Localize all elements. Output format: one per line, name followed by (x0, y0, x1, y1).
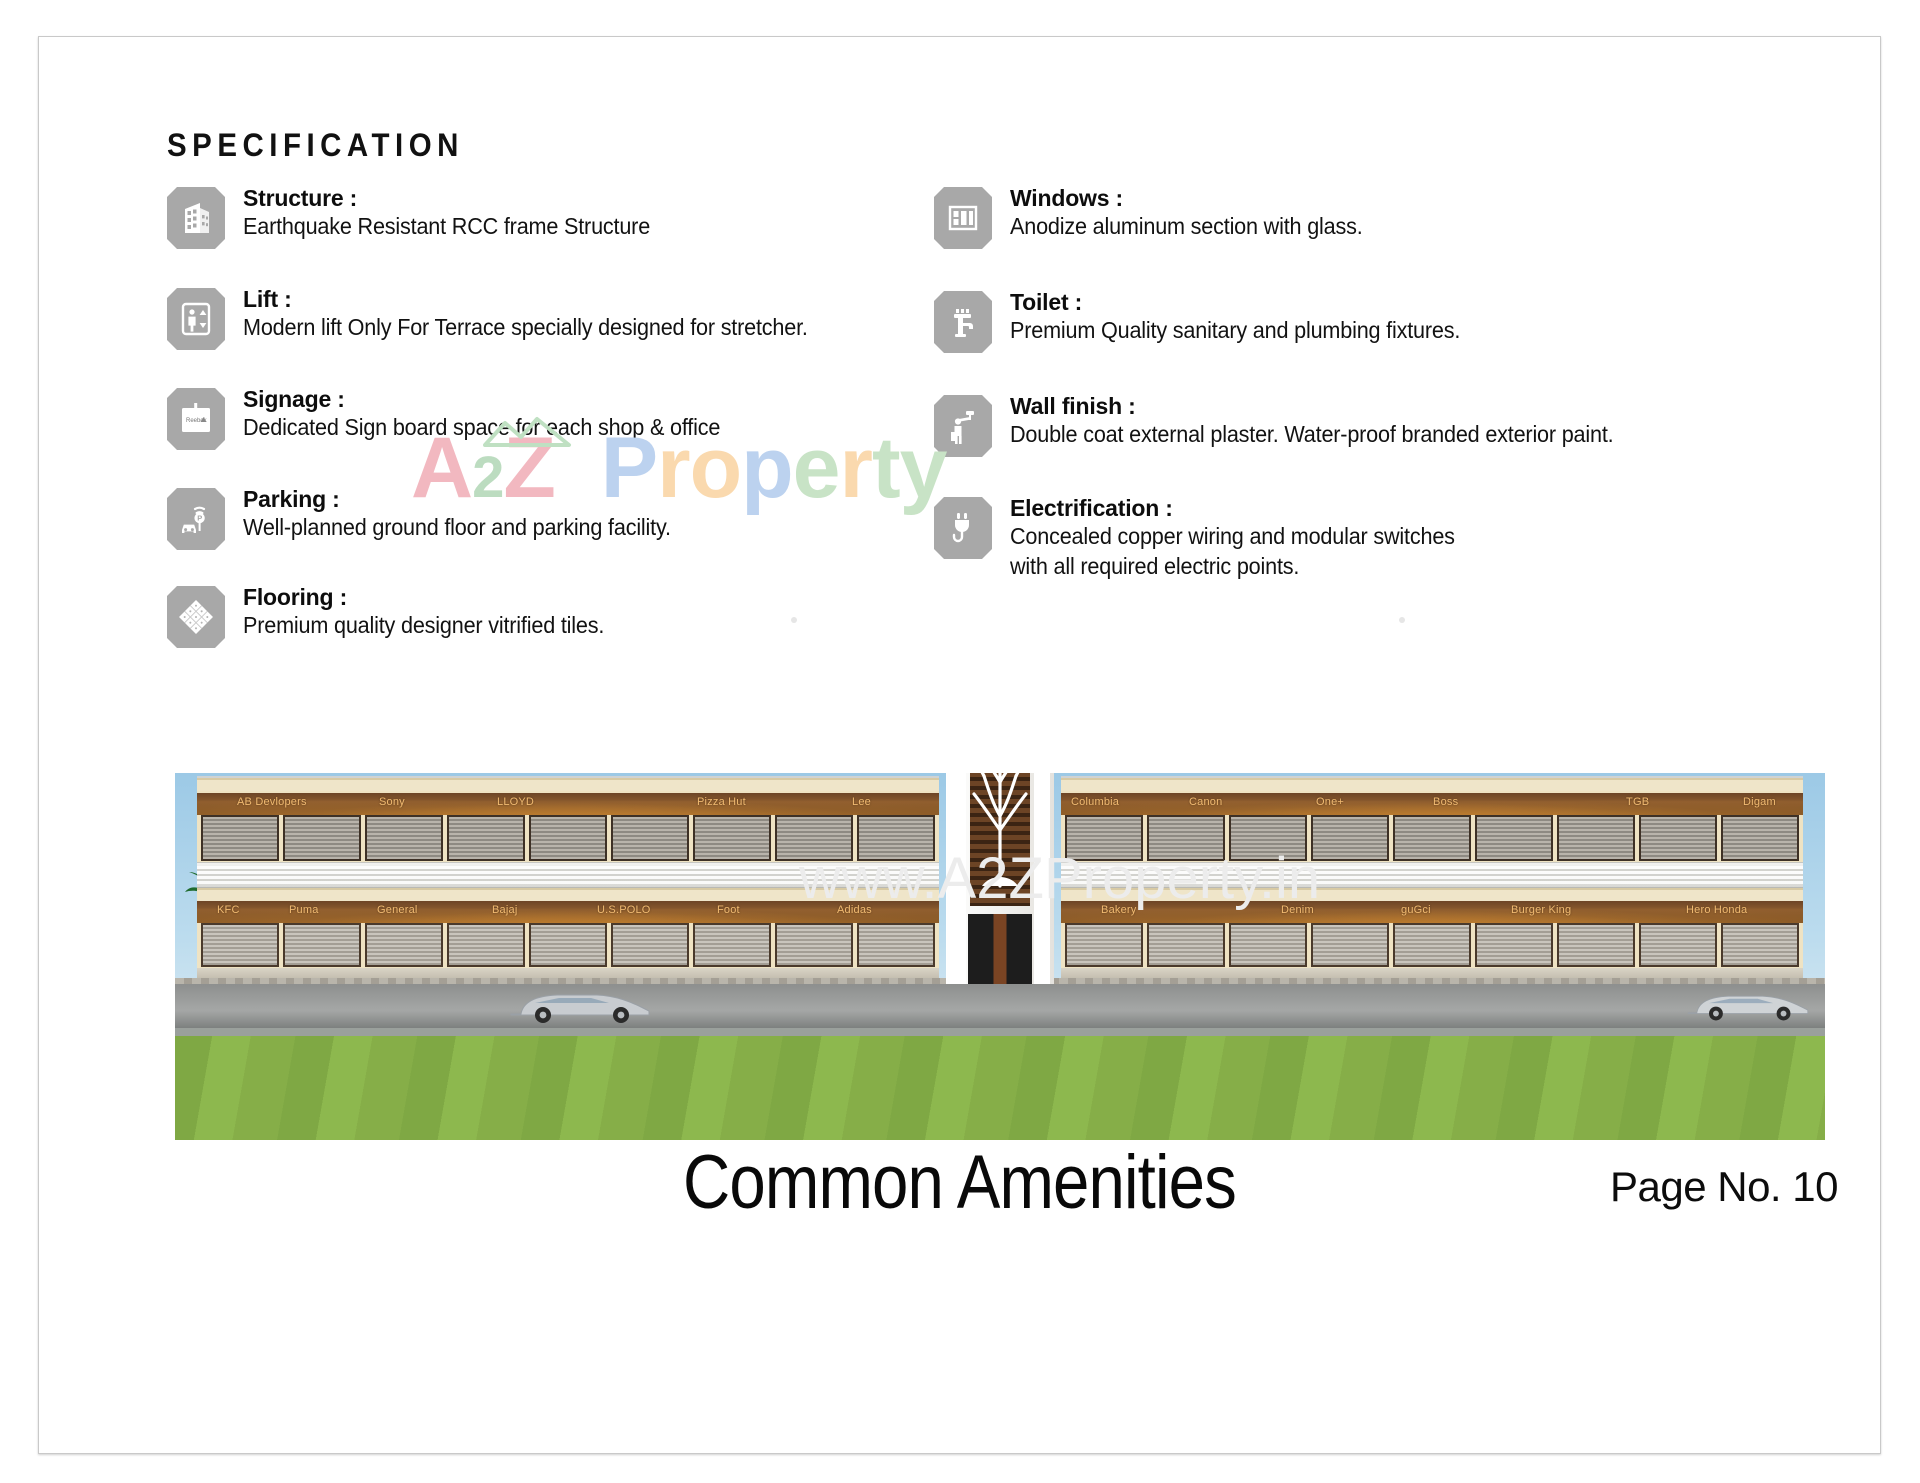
cornice-top (197, 778, 939, 791)
shop-sign: Columbia (1071, 796, 1119, 808)
upper-floor-signage-band: AB Devlopers Sony LLOYD Pizza Hut Lee (197, 793, 939, 815)
spec-text-parking: Parking : Well-planned ground floor and … (243, 486, 698, 543)
spec-text-toilet: Toilet : Premium Quality sanitary and pl… (1010, 289, 1489, 346)
spec-item-signage: Reebok Signage : Dedicated Sign board sp… (167, 386, 927, 458)
shop-sign: AB Devlopers (237, 796, 307, 808)
shop-sign: guGci (1401, 904, 1431, 916)
shop-sign: Canon (1189, 796, 1222, 808)
shop-sign: One+ (1316, 796, 1344, 808)
window-icon (934, 187, 992, 249)
shop-sign: Puma (289, 904, 319, 916)
tower-pilaster-right (1034, 773, 1050, 984)
spec-label-toilet: Toilet : (1010, 289, 1082, 315)
upper-floor-shutters (197, 815, 939, 861)
car-icon (505, 984, 655, 1024)
spec-desc-lift: Modern lift Only For Terrace specially d… (243, 313, 808, 343)
ground-floor-signage-band: KFC Puma General Bajaj U.S.POLO Foot Adi… (197, 901, 939, 923)
shop-sign: TGB (1626, 796, 1649, 808)
page-number: Page No. 10 (1610, 1163, 1838, 1211)
spec-text-lift: Lift : Modern lift Only For Terrace spec… (243, 286, 844, 343)
cornice-mid (1061, 888, 1803, 901)
painter-icon (934, 395, 992, 457)
balcony-railing (1061, 862, 1803, 888)
ground-floor-signage-band: Bakery Denim guGci Burger King Hero Hond… (1061, 901, 1803, 923)
spec-item-wall-finish: Wall finish : Double coat external plast… (934, 393, 1764, 465)
spec-item-toilet: Toilet : Premium Quality sanitary and pl… (934, 289, 1764, 361)
shop-sign: U.S.POLO (597, 904, 651, 916)
specifications-right-column: Windows : Anodize aluminum section with … (934, 185, 1764, 604)
building-render-image: AB Devlopers Sony LLOYD Pizza Hut Lee KF… (175, 773, 1825, 1140)
parking-icon: P (167, 488, 225, 550)
shop-sign: Adidas (837, 904, 872, 916)
shop-sign: Hero Honda (1686, 904, 1747, 916)
spec-desc-parking: Well-planned ground floor and parking fa… (243, 513, 671, 543)
shop-sign: KFC (217, 904, 240, 916)
spec-text-wall-finish: Wall finish : Double coat external plast… (1010, 393, 1652, 450)
building-left-wing: AB Devlopers Sony LLOYD Pizza Hut Lee KF… (197, 778, 939, 984)
balcony-railing (197, 862, 939, 888)
shop-sign: Bajaj (492, 904, 517, 916)
car-icon (1683, 984, 1813, 1024)
spec-text-structure: Structure : Earthquake Resistant RCC fra… (243, 185, 676, 242)
page-title: SPECIFICATION (167, 127, 464, 164)
ground-floor-shutters (197, 923, 939, 967)
spec-label-windows: Windows : (1010, 185, 1123, 211)
brochure-page: SPECIFICATION Structure : (38, 36, 1881, 1454)
lawn-foreground (175, 1028, 1825, 1140)
elevator-icon (167, 288, 225, 350)
plug-icon (934, 497, 992, 559)
cornice-top (1061, 778, 1803, 791)
spec-label-electrification: Electrification : (1010, 495, 1173, 521)
spec-item-electrification: Electrification : Concealed copper wirin… (934, 495, 1764, 582)
central-entrance-tower (946, 773, 1054, 984)
spec-label-signage: Signage : (243, 386, 345, 412)
shop-sign: LLOYD (497, 796, 534, 808)
shop-sign: Denim (1281, 904, 1314, 916)
spec-desc-structure: Earthquake Resistant RCC frame Structure (243, 212, 650, 242)
spec-text-flooring: Flooring : Premium quality designer vitr… (243, 584, 627, 641)
spec-desc-signage: Dedicated Sign board space for each shop… (243, 413, 720, 443)
specifications-left-column: Structure : Earthquake Resistant RCC fra… (167, 185, 927, 678)
ground-floor-shutters (1061, 923, 1803, 967)
spec-label-structure: Structure : (243, 185, 357, 211)
spec-text-signage: Signage : Dedicated Sign board space for… (243, 386, 751, 443)
tiles-icon (167, 586, 225, 648)
spec-desc-toilet: Premium Quality sanitary and plumbing fi… (1010, 316, 1460, 346)
building-icon (167, 187, 225, 249)
spec-desc-wall-finish: Double coat external plaster. Water-proo… (1010, 420, 1613, 450)
spec-item-windows: Windows : Anodize aluminum section with … (934, 185, 1764, 257)
shop-sign: Burger King (1511, 904, 1571, 916)
upper-floor-shutters (1061, 815, 1803, 861)
shop-sign: General (377, 904, 418, 916)
spec-label-lift: Lift : (243, 286, 292, 312)
spec-item-lift: Lift : Modern lift Only For Terrace spec… (167, 286, 927, 358)
watermark-dot-right (1399, 617, 1405, 623)
spec-label-parking: Parking : (243, 486, 340, 512)
shop-sign: Pizza Hut (697, 796, 746, 808)
spec-item-structure: Structure : Earthquake Resistant RCC fra… (167, 185, 927, 257)
spec-item-parking: P Parking : Well-planned ground floor an… (167, 486, 927, 558)
spec-desc-electrification: Concealed copper wiring and modular swit… (1010, 522, 1455, 582)
spec-text-windows: Windows : Anodize aluminum section with … (1010, 185, 1385, 242)
road-strip (175, 984, 1825, 1028)
cornice-mid (197, 888, 939, 901)
watermark-dot-left (791, 617, 797, 623)
spec-label-wall-finish: Wall finish : (1010, 393, 1136, 419)
spec-desc-flooring: Premium quality designer vitrified tiles… (243, 611, 604, 641)
shop-sign: Lee (852, 796, 871, 808)
shop-sign: Sony (379, 796, 405, 808)
spec-text-electrification: Electrification : Concealed copper wirin… (1010, 495, 1483, 582)
shop-sign: Bakery (1101, 904, 1136, 916)
shop-sign: Boss (1433, 796, 1458, 808)
tower-entrance-door (968, 914, 1032, 984)
spec-item-flooring: Flooring : Premium quality designer vitr… (167, 584, 927, 656)
svg-text:P: P (197, 513, 202, 522)
signboard-icon: Reebok (167, 388, 225, 450)
shop-sign: Digam (1743, 796, 1776, 808)
faucet-icon (934, 291, 992, 353)
tree-motif-icon (960, 773, 1040, 888)
building-right-wing: Columbia Canon One+ Boss TGB Digam Bake (1061, 778, 1803, 984)
spec-desc-windows: Anodize aluminum section with glass. (1010, 212, 1363, 242)
shop-sign: Foot (717, 904, 740, 916)
tower-pilaster-left (950, 773, 966, 984)
footer-title: Common Amenities (168, 1139, 1751, 1226)
spec-label-flooring: Flooring : (243, 584, 347, 610)
upper-floor-signage-band: Columbia Canon One+ Boss TGB Digam (1061, 793, 1803, 815)
